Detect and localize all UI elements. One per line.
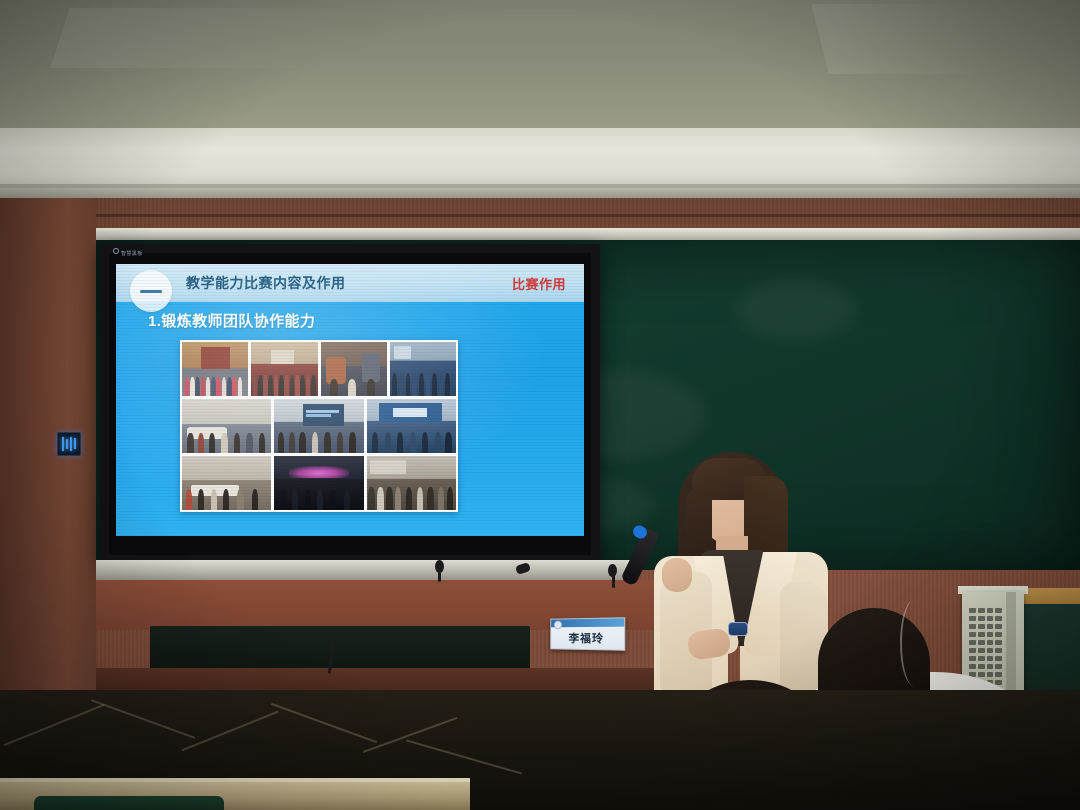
collage-cell-auditorium-blue-seats — [390, 342, 456, 396]
nameplate: 李福玲 — [550, 617, 625, 651]
presenter-wristwatch — [728, 622, 748, 636]
lecture-hall-photo: 智慧黑板 教学能力比赛内容及作用 比赛作用 1.锻炼教师团队协作能力 — [0, 0, 1080, 810]
slide-header-dash-icon — [140, 290, 162, 293]
chair-back-green[interactable] — [34, 796, 224, 810]
left-wall-column — [0, 198, 96, 698]
photo-collage — [180, 340, 458, 512]
slide-subtitle: 1.锻炼教师团队协作能力 — [148, 310, 315, 331]
hanging-cable — [900, 600, 928, 686]
collage-cell-small-group-worktable — [182, 456, 271, 510]
presentation-slide: 教学能力比赛内容及作用 比赛作用 1.锻炼教师团队协作能力 — [116, 264, 584, 536]
collage-cell-group-photo-stage — [182, 342, 248, 396]
ceiling-beam — [0, 128, 1080, 188]
collage-cell-dim-hall-stage-lights — [274, 456, 363, 510]
ceiling-light-streak-right — [811, 4, 1068, 74]
collage-row — [182, 399, 456, 453]
brand-dot-icon — [113, 248, 119, 254]
nameplate-header-bar — [551, 618, 624, 627]
nameplate-seal-icon — [554, 620, 562, 629]
collage-cell-lecture-with-projector — [274, 399, 363, 453]
smart-display[interactable]: 智慧黑板 教学能力比赛内容及作用 比赛作用 1.锻炼教师团队协作能力 — [100, 244, 600, 564]
collage-cell-workshop-round-tables — [182, 399, 271, 453]
nameplate-name-text: 李福玲 — [551, 630, 624, 647]
projected-screen[interactable]: 教学能力比赛内容及作用 比赛作用 1.锻炼教师团队协作能力 — [116, 264, 584, 536]
slide-header-title: 教学能力比赛内容及作用 — [186, 273, 346, 293]
collage-cell-audience-standing-room — [367, 456, 456, 510]
wall-control-panel-icon[interactable] — [57, 432, 81, 456]
collage-cell-lounge-discussion — [321, 342, 387, 396]
collage-row — [182, 342, 456, 396]
collage-row — [182, 456, 456, 510]
collage-cell-conference-hall-red-seats — [251, 342, 317, 396]
podium-top — [96, 560, 636, 582]
slide-section-tag: 比赛作用 — [512, 274, 566, 293]
collage-cell-seminar-screen-blue — [367, 399, 456, 453]
gooseneck-mic-head-left — [435, 560, 444, 573]
presenter-hand-holding-mic — [662, 558, 692, 592]
display-brand-label: 智慧黑板 — [113, 248, 143, 257]
ceiling-light-streak — [50, 8, 489, 68]
gooseneck-mic-head-right — [608, 564, 617, 577]
wall-seam-top — [0, 214, 1080, 217]
ceiling — [0, 0, 1080, 130]
